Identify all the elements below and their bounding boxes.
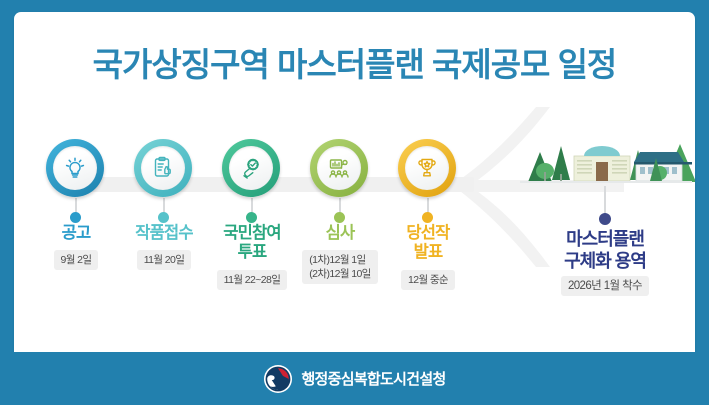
- step-date-chip: 11월 20일: [137, 250, 192, 270]
- hand-check-badge-icon: [229, 146, 273, 190]
- step-ring: [134, 139, 192, 197]
- step-date-wrap: 12월 중순: [370, 270, 486, 290]
- timeline-step-public-vote[interactable]: 국민참여 투표 11월 22~28일: [208, 130, 296, 206]
- step-date-chip: 11월 22~28일: [217, 270, 288, 290]
- infographic-root: 국가상징구역 마스터플랜 국제공모 일정: [0, 0, 709, 405]
- step-ring: [398, 139, 456, 197]
- step-dot: [334, 212, 345, 223]
- footer-agency-name: 행정중심복합도시건설청: [301, 368, 445, 389]
- step-label: 당선작 발표: [376, 224, 480, 262]
- step-dot: [158, 212, 169, 223]
- step-circle-area: [296, 130, 384, 206]
- lightbulb-icon: [53, 146, 97, 190]
- step-ring: [46, 139, 104, 197]
- outcome-date-wrap: 2026년 1월 착수: [512, 276, 695, 296]
- korea-government-taegeuk-logo: [263, 364, 293, 394]
- step-dot: [422, 212, 433, 223]
- presentation-audience-icon: [317, 146, 361, 190]
- outcome-date-chip: 2026년 1월 착수: [561, 276, 649, 296]
- step-circle-area: [208, 130, 296, 206]
- step-dot: [246, 212, 257, 223]
- step-circle-area: [120, 130, 208, 206]
- step-dot: [70, 212, 81, 223]
- timeline-step-announcement[interactable]: 공고 9월 2일: [32, 130, 120, 206]
- outcome-dot: [599, 213, 611, 225]
- clipboard-hand-icon: [141, 146, 185, 190]
- step-ring: [222, 139, 280, 197]
- step-circle-area: [384, 130, 472, 206]
- content-panel: 국가상징구역 마스터플랜 국제공모 일정: [14, 12, 695, 352]
- step-ring: [310, 139, 368, 197]
- step-date-chip: 12월 중순: [401, 270, 455, 290]
- timeline-step-review[interactable]: 심사 (1차)12월 1일 (2차)12월 10일: [296, 130, 384, 206]
- timeline-step-submission[interactable]: 작품접수 11월 20일: [120, 130, 208, 206]
- page-title: 국가상징구역 마스터플랜 국제공모 일정: [93, 38, 617, 86]
- footer-bar: 행정중심복합도시건설청: [0, 352, 709, 405]
- step-circle-area: [32, 130, 120, 206]
- step-date-chip: (1차)12월 1일 (2차)12월 10일: [302, 250, 378, 284]
- step-date-chip: 9월 2일: [54, 250, 99, 270]
- timeline-step-winner-announcement[interactable]: 당선작 발표 12월 중순: [384, 130, 472, 206]
- trophy-icon: [405, 146, 449, 190]
- outcome-stem: [604, 186, 606, 216]
- outcome-label: 마스터플랜 구체화 용역: [512, 228, 695, 272]
- outcome-block[interactable]: 마스터플랜 구체화 용역 2026년 1월 착수: [512, 124, 695, 186]
- government-buildings-scene: [512, 124, 695, 186]
- timeline: 공고 9월 2일: [32, 130, 492, 310]
- title-container: 국가상징구역 마스터플랜 국제공모 일정: [14, 38, 695, 86]
